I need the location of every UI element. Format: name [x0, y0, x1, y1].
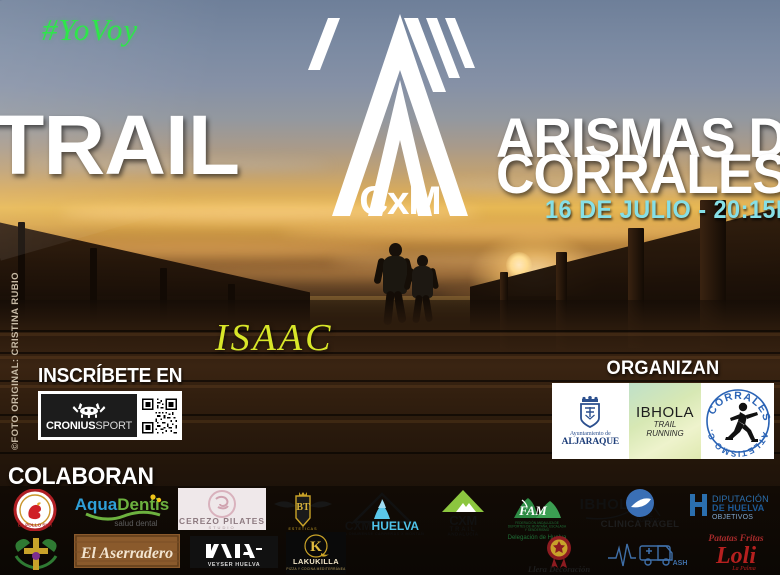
- coat-of-arms-icon: [573, 396, 607, 430]
- svg-text:DE HUELVA: DE HUELVA: [712, 503, 765, 513]
- deck-plank-line: [0, 330, 780, 332]
- registration-block: INSCRÍBETE EN: [38, 365, 190, 440]
- collaborator-logos: LA POLLO SUR AquaDentis salud dental CER…: [0, 488, 780, 575]
- runner-silhouette: [412, 266, 433, 298]
- organizers-block: ORGANIZAN Ayuntamiento de ALJARAQUE IBHO…: [552, 358, 774, 459]
- logo-clinica-ragel: CLINICA RAGEL: [598, 488, 682, 532]
- page-title-corrales: CORRALES: [496, 146, 780, 202]
- svg-text:La Palma: La Palma: [731, 566, 756, 572]
- svg-text:salud dental: salud dental: [114, 519, 157, 528]
- svg-text:CXMHUELVA: CXMHUELVA: [345, 519, 420, 533]
- croniussport-registration-card[interactable]: CRONIUSSPORT: [38, 391, 182, 440]
- ibhola-name: IBHOLA: [636, 404, 694, 421]
- logo-ayuntamiento-aljaraque: Ayuntamiento de ALJARAQUE: [552, 383, 629, 459]
- aljaraque-line2: ALJARAQUE: [562, 437, 619, 447]
- photo-credit: ©FOTO ORIGINAL: CRISTINA RUBIO: [10, 305, 21, 450]
- page-title-trail: TRAIL: [0, 103, 239, 187]
- ibhola-running: RUNNING: [646, 430, 683, 438]
- qr-code[interactable]: [140, 396, 179, 436]
- svg-text:CxM: CxM: [359, 179, 440, 223]
- collaborators-heading: COLABORAN: [8, 463, 154, 491]
- svg-text:K: K: [310, 539, 322, 555]
- logo-kia-veyser-huelva: VEYSER HUELVA: [190, 536, 278, 568]
- logo-cxm-huelva: CXMHUELVA LIGA ONUBENSE CARRERAS X MONTA…: [340, 490, 424, 536]
- running-man-icon: CORRALES ATLETISMO C.D.: [702, 385, 774, 457]
- svg-text:STUDIO: STUDIO: [208, 525, 235, 530]
- logo-cerezo-pilates: CEREZO PILATES STUDIO: [178, 488, 266, 530]
- logo-diputacion-huelva: DIPUTACIÓN DE HUELVA OBJETIVOS: [688, 490, 780, 526]
- deck-plank-line: [0, 352, 780, 354]
- svg-text:LAKUKILLA: LAKUKILLA: [293, 557, 339, 566]
- logo-cd-atletismo-corrales: CORRALES ATLETISMO C.D.: [701, 383, 774, 459]
- croniussport-logo: CRONIUSSPORT: [41, 394, 137, 437]
- crab-icon: [68, 398, 110, 418]
- svg-text:ESTETICAS: ESTETICAS: [289, 527, 318, 531]
- svg-text:El Aserradero: El Aserradero: [80, 545, 173, 562]
- svg-text:LIGA ONUBENSE CARRERAS X MONTA: LIGA ONUBENSE CARRERAS X MONTAÑA: [340, 531, 424, 536]
- cxm-mountain-logo: CxM: [300, 8, 500, 223]
- sport-light: SPORT: [95, 420, 132, 432]
- logo-hermandad-escudo: [8, 532, 64, 574]
- svg-text:CLINICA RAGEL: CLINICA RAGEL: [601, 519, 680, 530]
- logo-aquadentis: AquaDentis salud dental: [72, 492, 172, 528]
- svg-text:OBJETIVOS: OBJETIVOS: [712, 514, 753, 521]
- logo-ibhola-trail-running: IBHOLA TRAIL RUNNING: [629, 383, 702, 459]
- svg-text:LA POLLO SUR: LA POLLO SUR: [18, 523, 53, 528]
- runner-silhouette: [389, 243, 402, 257]
- logo-llera-decoracion: Llera Decoración: [520, 532, 598, 574]
- logo-bt-esteticas: BT ESTETICAS: [272, 488, 334, 534]
- svg-text:Llera Decoración: Llera Decoración: [527, 564, 591, 574]
- logo-el-aserradero: El Aserradero: [74, 534, 180, 568]
- svg-text:PIZZA Y COCINA MEDITERRÁNEA: PIZZA Y COCINA MEDITERRÁNEA: [286, 567, 346, 571]
- svg-text:CXM: CXM: [449, 513, 476, 528]
- cronius-bold: CRONIUS: [46, 420, 95, 432]
- registration-heading: INSCRÍBETE EN: [38, 365, 182, 388]
- logo-pollo-sur: LA POLLO SUR: [6, 488, 64, 532]
- organizer-logos: Ayuntamiento de ALJARAQUE IBHOLA TRAIL R…: [552, 383, 774, 459]
- deck-plank-line: [0, 333, 780, 336]
- event-date-time: 16 DE JULIO - 20:15H: [545, 196, 780, 225]
- event-poster: CxM TRAIL ARISMAS DE CORRALES 16 DE JULI…: [0, 0, 780, 575]
- svg-text:FAM: FAM: [518, 503, 547, 518]
- logo-lakukilla: K LAKUKILLA PIZZA Y COCINA MEDITERRÁNEA: [286, 532, 346, 574]
- participant-name: ISAAC: [215, 316, 333, 360]
- svg-text:VEYSER HUELVA: VEYSER HUELVA: [208, 562, 261, 568]
- logo-ash-ambulancias: ASH: [606, 534, 690, 570]
- logo-cxm-trail-andalucia: CXM TRAIL ANDALUCÍA: [432, 488, 494, 536]
- svg-text:ASH: ASH: [673, 560, 688, 567]
- croniussport-wordmark: CRONIUSSPORT: [46, 420, 132, 432]
- svg-text:BT: BT: [296, 502, 310, 513]
- logo-patatas-fritas-loli: Patatas Fritas Loli La Palma: [694, 530, 778, 574]
- hashtag-yovoy: #YoVoy: [42, 12, 138, 48]
- organizers-heading: ORGANIZAN: [556, 358, 769, 380]
